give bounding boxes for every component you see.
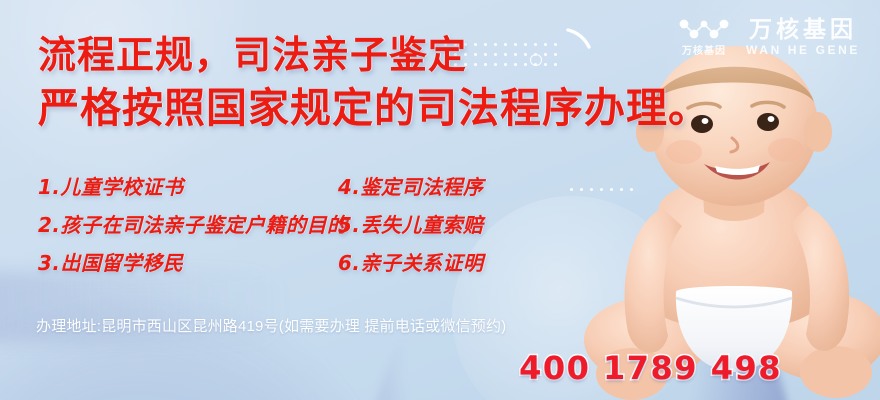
list-item: 3.出国留学移民 — [38, 252, 338, 274]
contact-phone-number[interactable]: 400 1789 498 — [519, 352, 782, 384]
list-row: 2.孩子在司法亲子鉴定户籍的目的 5.丢失儿童索赔 — [38, 214, 638, 236]
headline-line-2: 严格按照国家规定的司法程序办理。 — [38, 81, 638, 136]
logo-mark-label: 万核基因 — [682, 47, 726, 57]
service-list-left-col: 3.出国留学移民 — [38, 252, 338, 274]
molecule-network-icon — [676, 16, 732, 44]
logo-wordmark: 万核基因 WAN HE GENE — [746, 18, 860, 56]
headline-block: 流程正规，司法亲子鉴定 严格按照国家规定的司法程序办理。 — [38, 30, 638, 135]
list-item: 4.鉴定司法程序 — [338, 176, 598, 198]
service-list-left-col: 2.孩子在司法亲子鉴定户籍的目的 — [38, 214, 338, 236]
logo-chinese-name: 万核基因 — [749, 18, 857, 41]
list-item: 5.丢失儿童索赔 — [338, 214, 598, 236]
service-list: 1.儿童学校证书 4.鉴定司法程序 2.孩子在司法亲子鉴定户籍的目的 5.丢失儿… — [38, 176, 638, 290]
office-address: 办理地址:昆明市西山区昆州路419号(如需要办理 提前电话或微信预约) — [36, 318, 506, 336]
list-row: 3.出国留学移民 6.亲子关系证明 — [38, 252, 638, 274]
list-item: 6.亲子关系证明 — [338, 252, 598, 274]
promo-banner: 万核基因 万核基因 WAN HE GENE 流程正规，司法亲子鉴定 严格按照国家… — [0, 0, 880, 400]
service-list-left-col: 1.儿童学校证书 — [38, 176, 338, 198]
list-item: 2.孩子在司法亲子鉴定户籍的目的 — [38, 214, 338, 236]
brand-logo: 万核基因 万核基因 WAN HE GENE — [676, 16, 860, 57]
logo-english-name: WAN HE GENE — [746, 44, 860, 56]
list-item: 1.儿童学校证书 — [38, 176, 338, 198]
headline-line-1: 流程正规，司法亲子鉴定 — [38, 30, 638, 81]
list-row: 1.儿童学校证书 4.鉴定司法程序 — [38, 176, 638, 198]
service-list-right-col: 6.亲子关系证明 — [338, 252, 598, 274]
service-list-right-col: 5.丢失儿童索赔 — [338, 214, 598, 236]
service-list-right-col: 4.鉴定司法程序 — [338, 176, 598, 198]
logo-mark: 万核基因 — [676, 16, 732, 57]
